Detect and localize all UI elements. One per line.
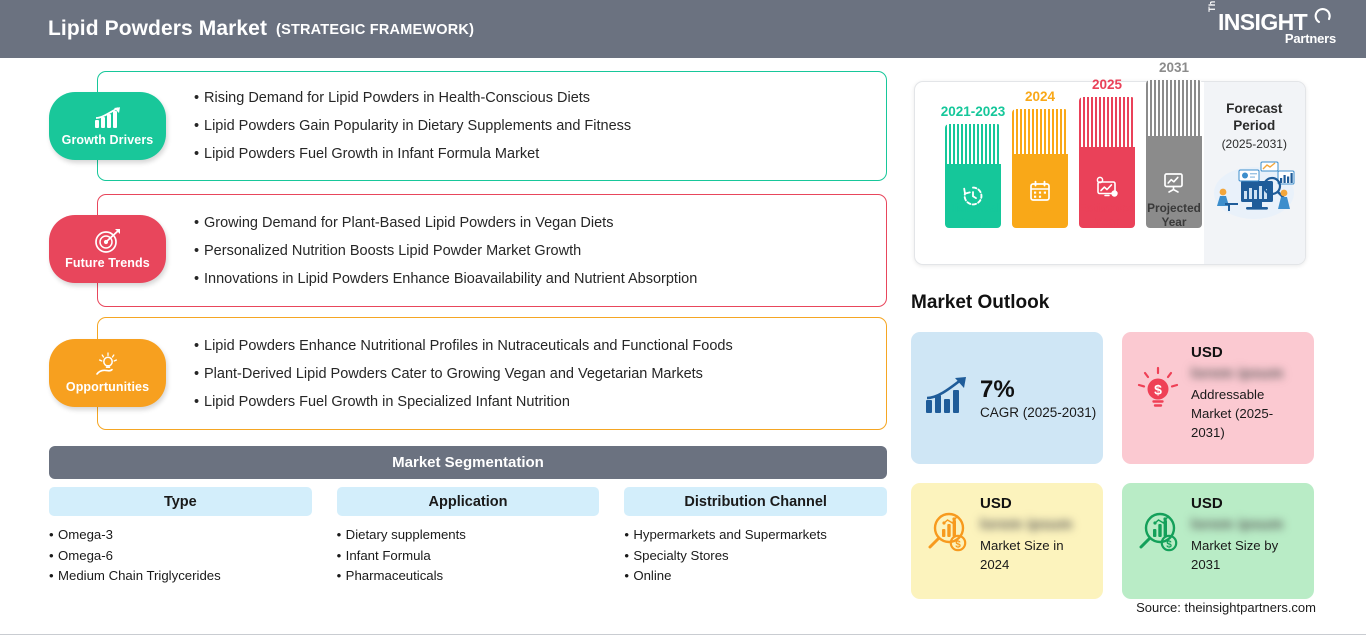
- timeline-bar-stripes: [1146, 80, 1202, 136]
- blurred-value: lorem ipsum: [980, 516, 1090, 533]
- list-item: •Omega-3: [49, 525, 312, 546]
- segmentation-list: •Hypermarkets and Supermarkets •Specialt…: [624, 525, 887, 587]
- bullet-item: •Plant-Derived Lipid Powders Cater to Gr…: [194, 360, 733, 388]
- segmentation-column-application: Application •Dietary supplements •Infant…: [337, 487, 600, 587]
- bullet-item: •Lipid Powders Fuel Growth in Infant For…: [194, 140, 631, 168]
- bar-chart-growth-icon: [93, 105, 123, 131]
- timeline-bar-year: 2024: [1025, 89, 1055, 104]
- cagr-label: CAGR (2025-2031): [980, 405, 1096, 420]
- timeline-bar-stripes: [1012, 109, 1068, 154]
- market-segmentation-header: Market Segmentation: [49, 446, 887, 479]
- presentation-chart-icon: [1162, 170, 1186, 194]
- panel-growth-drivers: •Rising Demand for Lipid Powders in Heal…: [97, 71, 887, 181]
- magnifier-chart-dollar-icon: $: [1135, 511, 1181, 560]
- card-label: Market Size in 2024: [980, 536, 1090, 574]
- lightbulb-hand-icon: [93, 352, 123, 378]
- trend-gear-icon: [1094, 175, 1120, 199]
- badge-label: Growth Drivers: [62, 133, 154, 147]
- outlook-card-body: USD lorem ipsum Market Size in 2024: [980, 495, 1090, 574]
- bullet-item: •Growing Demand for Plant-Based Lipid Po…: [194, 209, 697, 237]
- bullet-item: •Lipid Powders Enhance Nutritional Profi…: [194, 332, 733, 360]
- segmentation-column-header: Distribution Channel: [624, 487, 887, 516]
- segmentation-column-header: Type: [49, 487, 312, 516]
- page-header: Lipid Powders Market (STRATEGIC FRAMEWOR…: [0, 0, 1366, 58]
- panel-future-trends: •Growing Demand for Plant-Based Lipid Po…: [97, 194, 887, 307]
- bullet-list-growth-drivers: •Rising Demand for Lipid Powders in Heal…: [194, 84, 631, 168]
- badge-label: Opportunities: [66, 380, 149, 394]
- logo-partners-text: Partners: [1285, 31, 1336, 46]
- bullet-item: •Rising Demand for Lipid Powders in Heal…: [194, 84, 631, 112]
- market-segmentation-columns: Type •Omega-3 •Omega-6 •Medium Chain Tri…: [49, 487, 887, 587]
- forecast-period-panel: Forecast Period (2025-2031): [1204, 82, 1305, 264]
- list-item: •Medium Chain Triglycerides: [49, 566, 312, 587]
- outlook-card-market-size-2024: $ USD lorem ipsum Market Size in 2024: [911, 483, 1103, 599]
- timeline-bar-stripes: [1079, 97, 1135, 147]
- timeline-bar-caption: ProjectedYear: [1147, 201, 1201, 229]
- outlook-card-addressable-market: $ USD lorem ipsum Addressable Market (20…: [1122, 332, 1314, 464]
- list-item: •Online: [624, 566, 887, 587]
- segmentation-list: •Dietary supplements •Infant Formula •Ph…: [337, 525, 600, 587]
- page-subtitle: (STRATEGIC FRAMEWORK): [276, 22, 474, 38]
- brand-logo: The INSIGHT Partners: [1204, 6, 1344, 52]
- infographic-page: Lipid Powders Market (STRATEGIC FRAMEWOR…: [0, 0, 1366, 635]
- timeline-bar-year: 2025: [1092, 77, 1122, 92]
- currency-label: USD: [980, 495, 1090, 512]
- bullet-list-opportunities: •Lipid Powders Enhance Nutritional Profi…: [194, 332, 733, 416]
- logo-arc-icon: [1314, 6, 1334, 26]
- outlook-card-body: USD lorem ipsum Market Size by 2031: [1191, 495, 1301, 574]
- bullet-item: •Lipid Powders Gain Popularity in Dietar…: [194, 112, 631, 140]
- badge-future-trends[interactable]: Future Trends: [49, 215, 166, 283]
- forecast-period-range: (2025-2031): [1222, 137, 1287, 151]
- source-text: Source: theinsightpartners.com: [1136, 600, 1316, 615]
- market-outlook-title: Market Outlook: [911, 292, 1049, 314]
- target-dart-icon: [94, 228, 122, 254]
- badge-label: Future Trends: [65, 256, 150, 270]
- blurred-value: lorem ipsum: [1191, 516, 1301, 533]
- timeline-bar-stripes: [945, 124, 1001, 164]
- outlook-card-cagr: 7% CAGR (2025-2031): [911, 332, 1103, 464]
- timeline-card: 2021-2023 HistoricalYears 2: [914, 81, 1306, 265]
- bullet-item: •Innovations in Lipid Powders Enhance Bi…: [194, 265, 697, 293]
- outlook-card-market-size-2031: $ USD lorem ipsum Market Size by 2031: [1122, 483, 1314, 599]
- timeline-bar-year: 2031: [1159, 60, 1189, 75]
- bullet-item: •Personalized Nutrition Boosts Lipid Pow…: [194, 237, 697, 265]
- segmentation-column-distribution-channel: Distribution Channel •Hypermarkets and S…: [624, 487, 887, 587]
- list-item: •Hypermarkets and Supermarkets: [624, 525, 887, 546]
- timeline-bars: 2021-2023 HistoricalYears 2: [915, 82, 1204, 264]
- card-label: Addressable Market (2025-2031): [1191, 385, 1301, 442]
- timeline-bar-caption: BaseYear: [1026, 201, 1054, 229]
- calendar-icon: [1028, 179, 1052, 203]
- magnifier-chart-dollar-icon: $: [924, 511, 970, 560]
- list-item: •Specialty Stores: [624, 546, 887, 567]
- timeline-bar-caption: HistoricalYears: [946, 201, 1000, 229]
- badge-opportunities[interactable]: Opportunities: [49, 339, 166, 407]
- bullet-item: •Lipid Powders Fuel Growth in Specialize…: [194, 388, 733, 416]
- data-analysis-illustration: [1208, 159, 1300, 221]
- currency-label: USD: [1191, 495, 1301, 512]
- list-item: •Pharmaceuticals: [337, 566, 600, 587]
- panel-opportunities: •Lipid Powders Enhance Nutritional Profi…: [97, 317, 887, 430]
- lightbulb-dollar-icon: $: [1135, 366, 1181, 417]
- segmentation-column-header: Application: [337, 487, 600, 516]
- cagr-value: 7%: [980, 377, 1096, 403]
- card-label: Market Size by 2031: [1191, 536, 1301, 574]
- svg-text:$: $: [955, 540, 961, 551]
- timeline-bar-year: 2021-2023: [941, 104, 1006, 119]
- svg-text:$: $: [1166, 540, 1172, 551]
- currency-label: USD: [1191, 344, 1301, 361]
- segmentation-column-type: Type •Omega-3 •Omega-6 •Medium Chain Tri…: [49, 487, 312, 587]
- list-item: •Infant Formula: [337, 546, 600, 567]
- list-item: •Dietary supplements: [337, 525, 600, 546]
- forecast-period-label: Forecast Period: [1204, 100, 1305, 134]
- badge-growth-drivers[interactable]: Growth Drivers: [49, 92, 166, 160]
- segmentation-list: •Omega-3 •Omega-6 •Medium Chain Triglyce…: [49, 525, 312, 587]
- page-title: Lipid Powders Market: [48, 17, 267, 41]
- logo-the-text: The: [1207, 0, 1217, 12]
- outlook-card-body: 7% CAGR (2025-2031): [980, 377, 1096, 420]
- list-item: •Omega-6: [49, 546, 312, 567]
- svg-text:$: $: [1154, 382, 1162, 398]
- bullet-list-future-trends: •Growing Demand for Plant-Based Lipid Po…: [194, 209, 697, 293]
- bar-chart-arrow-icon: [924, 376, 970, 421]
- blurred-value: lorem ipsum: [1191, 365, 1301, 382]
- timeline-bar-caption: EstimatedYear: [1079, 201, 1135, 229]
- outlook-card-body: USD lorem ipsum Addressable Market (2025…: [1191, 344, 1301, 442]
